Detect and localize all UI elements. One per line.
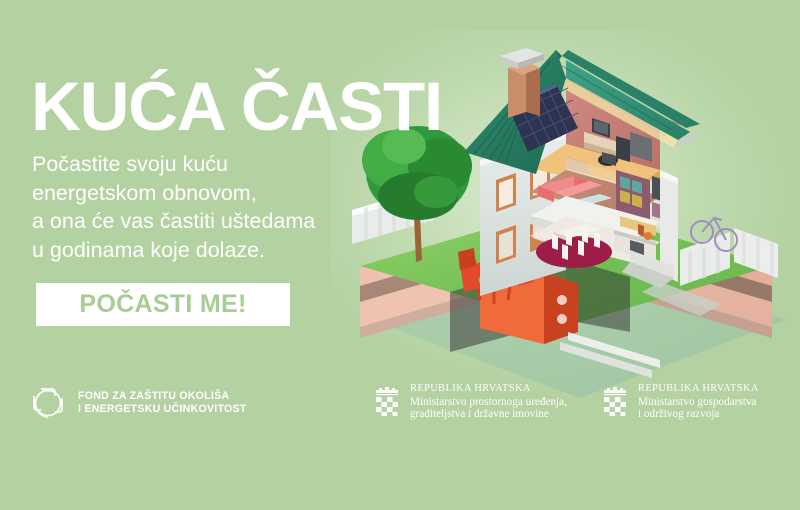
ministry-text-block: REPUBLIKA HRVATSKA Ministarstvo gospodar… — [638, 383, 759, 421]
ministry1-line-1: REPUBLIKA HRVATSKA — [410, 383, 567, 396]
ministry1-line-3: graditeljstva i državne imovine — [410, 408, 567, 421]
cta-button-label: POČASTI ME! — [79, 290, 246, 319]
checkerboard — [604, 397, 626, 416]
logo-fond-zastitu-okolisa[interactable]: FOND ZA ZAŠTITU OKOLIŠA I ENERGETSKU UČI… — [28, 383, 247, 423]
ministry2-line-1: REPUBLIKA HRVATSKA — [638, 383, 759, 396]
ministry1-line-2: Ministarstvo prostornoga uređenja, — [410, 396, 567, 409]
subtitle-line-2: energetskom obnovom, — [32, 179, 315, 208]
subtitle-line-3: a ona će vas častiti uštedama — [32, 207, 315, 236]
fond-text-block: FOND ZA ZAŠTITU OKOLIŠA I ENERGETSKU UČI… — [78, 390, 247, 417]
ministry-text-block: REPUBLIKA HRVATSKA Ministarstvo prostorn… — [410, 383, 567, 421]
page-title: KUĆA ČASTI — [31, 72, 442, 141]
subtitle-line-4: u godinama koje dolaze. — [32, 236, 315, 265]
croatian-coat-of-arms-icon — [600, 385, 630, 419]
fond-line-1: FOND ZA ZAŠTITU OKOLIŠA — [78, 390, 247, 403]
croatian-coat-of-arms-icon — [372, 385, 402, 419]
subtitle-line-1: Počastite svoju kuću — [32, 150, 315, 179]
logo-ministarstvo-prostornoga-uredenja[interactable]: REPUBLIKA HRVATSKA Ministarstvo prostorn… — [372, 383, 567, 421]
circular-arrows-logo-icon — [28, 383, 68, 423]
ministry2-line-3: i održivog razvoja — [638, 408, 759, 421]
banner-root: KUĆA ČASTI Počastite svoju kuću energets… — [0, 0, 800, 510]
subtitle-block: Počastite svoju kuću energetskom obnovom… — [32, 150, 315, 264]
logo-ministarstvo-gospodarstva[interactable]: REPUBLIKA HRVATSKA Ministarstvo gospodar… — [600, 383, 759, 421]
cta-button[interactable]: POČASTI ME! — [36, 283, 290, 326]
fond-line-2: I ENERGETSKU UČINKOVITOST — [78, 403, 247, 416]
checkerboard — [376, 397, 398, 416]
ministry2-line-2: Ministarstvo gospodarstva — [638, 396, 759, 409]
